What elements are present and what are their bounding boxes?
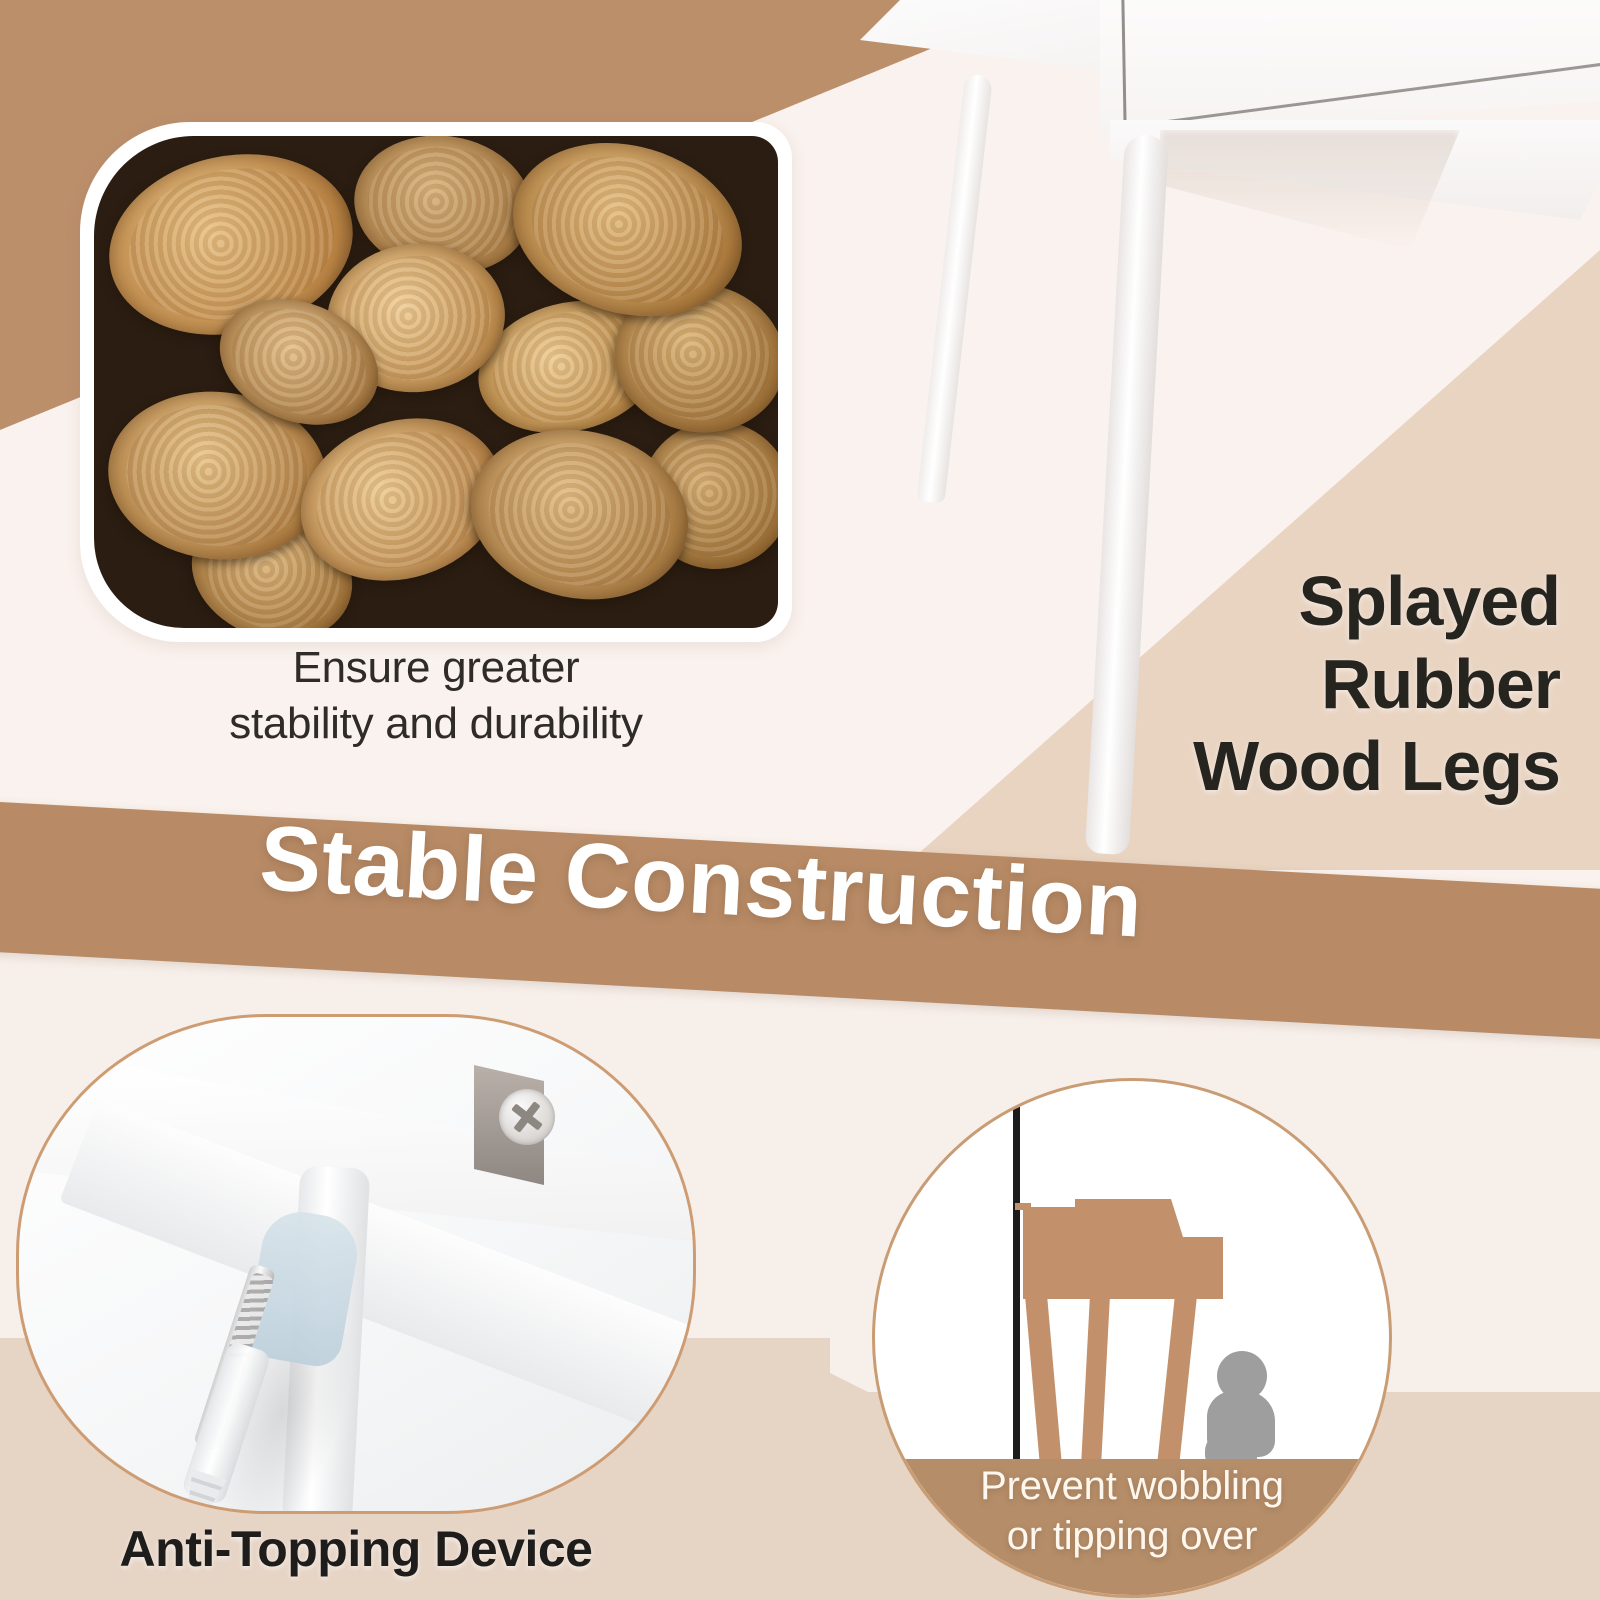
legs-title-line-1: Splayed [940, 560, 1560, 643]
infographic-canvas: Ensure greater stability and durability … [0, 0, 1600, 1600]
desk-leg-back [916, 73, 992, 503]
desk-underside-shadow [1160, 130, 1460, 250]
desk-silhouette [1023, 1199, 1223, 1299]
wood-photo-card [80, 122, 792, 642]
prevent-tipping-caption: Prevent wobbling or tipping over [872, 1462, 1392, 1561]
prevent-tipping-line-1: Prevent wobbling [872, 1462, 1392, 1512]
stacked-logs-photo [94, 136, 778, 628]
phillips-screw-icon [499, 1089, 555, 1145]
anti-topping-device-panel [16, 1014, 696, 1514]
legs-title-line-3: Wood Legs [940, 725, 1560, 808]
desk-silhouette-leg-3 [1155, 1294, 1197, 1485]
prevent-tipping-line-2: or tipping over [872, 1512, 1392, 1562]
legs-title-line-2: Rubber [940, 643, 1560, 726]
desk-silhouette-leg-1 [1025, 1294, 1063, 1485]
anti-topping-device-caption: Anti-Topping Device [16, 1520, 696, 1578]
wood-caption-line-2: stability and durability [80, 696, 792, 752]
wood-caption-line-1: Ensure greater [80, 640, 792, 696]
splayed-legs-title: Splayed Rubber Wood Legs [940, 560, 1560, 808]
wood-card-caption: Ensure greater stability and durability [80, 640, 792, 753]
wall-line [1013, 1081, 1020, 1481]
desk-silhouette-leg-2 [1080, 1294, 1110, 1485]
child-silhouette [1205, 1351, 1277, 1469]
